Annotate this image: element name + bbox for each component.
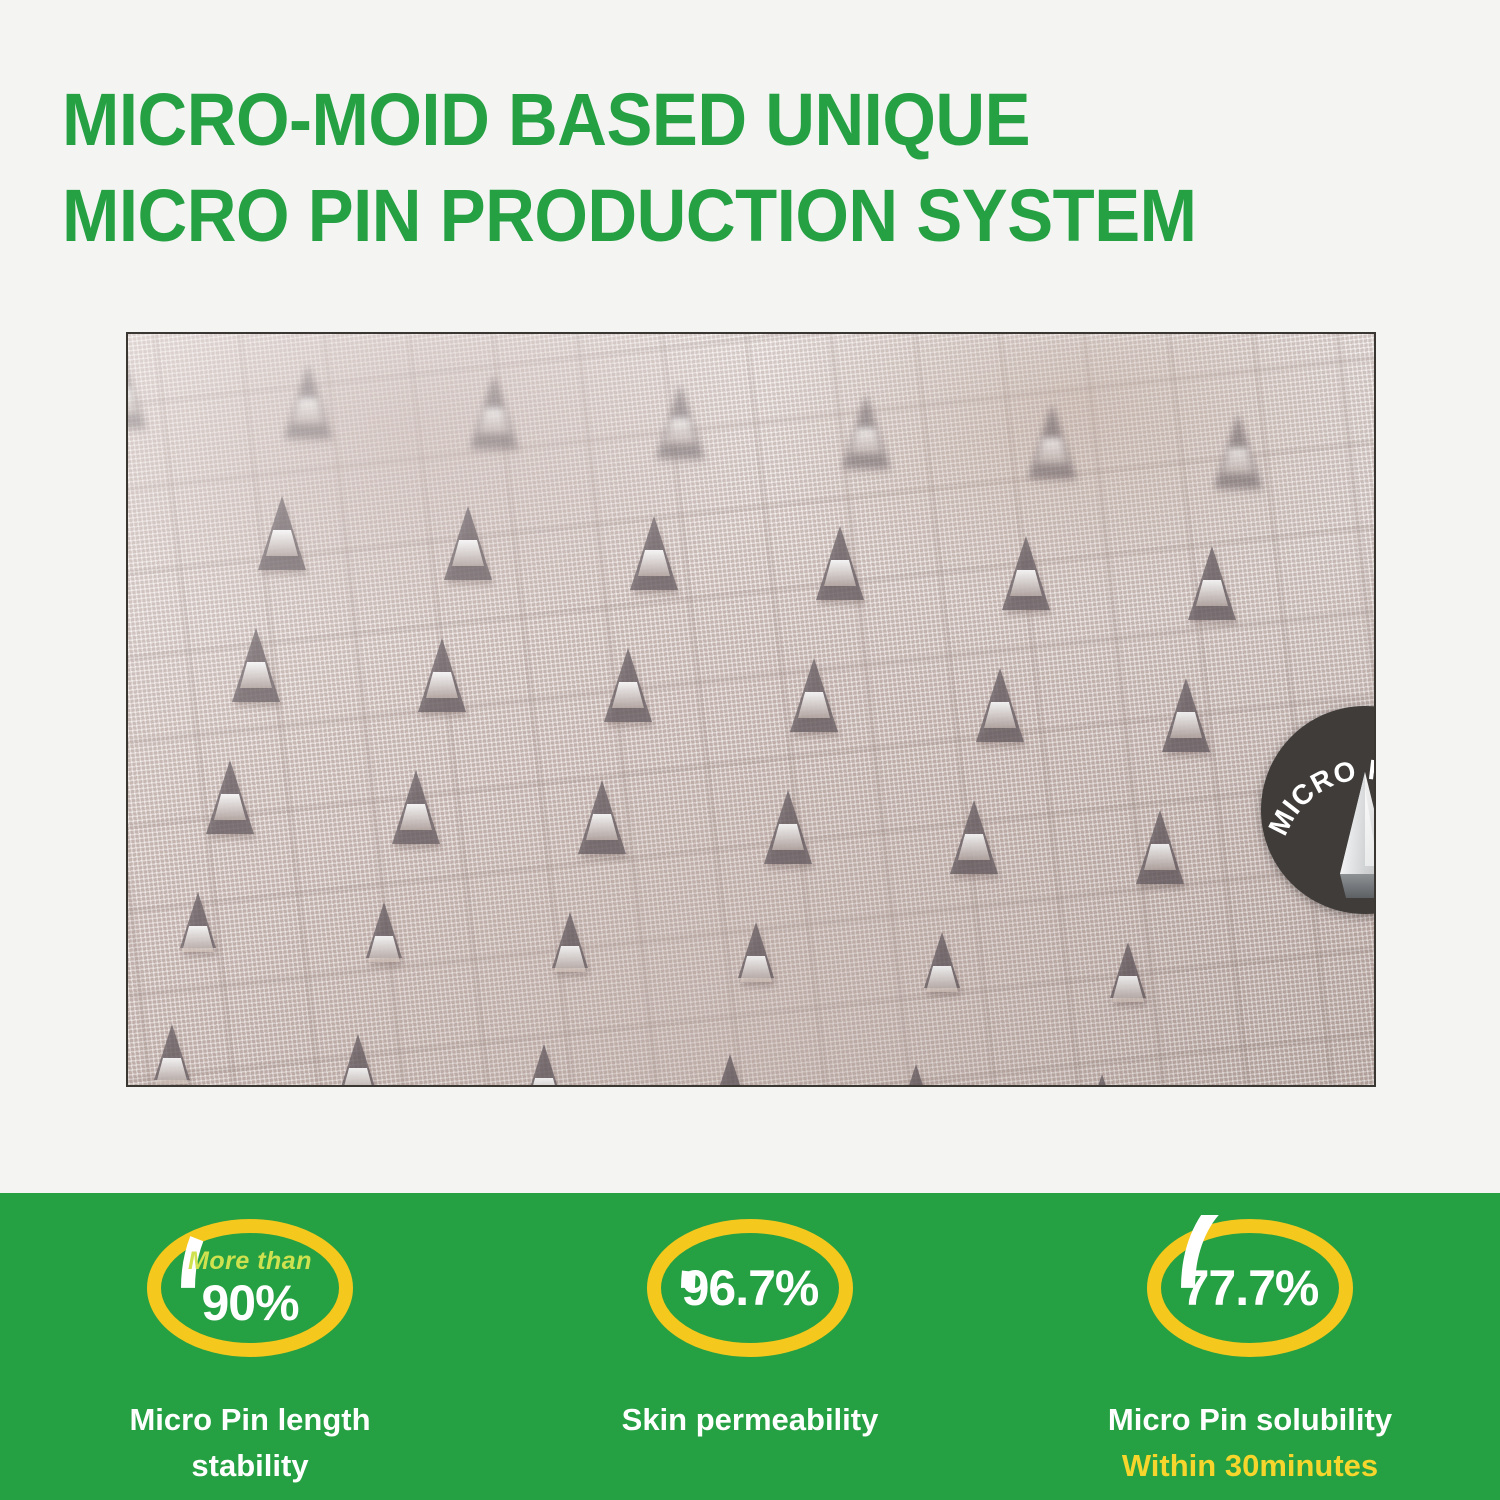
- stat-label-3: Micro Pin solubilityWithin 30minutes: [1108, 1397, 1392, 1489]
- stat-ring-3: 77.7%: [1139, 1215, 1361, 1361]
- stat-ring-1: More than90%: [139, 1215, 361, 1361]
- stat-item-2: 96.7%Skin permeability: [500, 1193, 1000, 1500]
- stat-value-block-3: 77.7%: [1182, 1263, 1319, 1313]
- photo-gloss-overlay: [128, 334, 1374, 1085]
- page-title: MICRO-MOID BASED UNIQUE MICRO PIN PRODUC…: [62, 72, 1442, 264]
- stat-value-1: 90%: [188, 1278, 312, 1328]
- stat-item-3: 77.7%Micro Pin solubilityWithin 30minute…: [1000, 1193, 1500, 1500]
- micro-pin-microscope-photo: MICRO PIN 200EA: [126, 332, 1376, 1087]
- stat-sublabel-3: Within 30minutes: [1108, 1443, 1392, 1489]
- stat-prefix-1: More than: [188, 1249, 312, 1274]
- stat-value-block-1: More than90%: [188, 1249, 312, 1328]
- stats-row: More than90%Micro Pin lengthstability96.…: [0, 1193, 1500, 1500]
- micro-pin-200ea-badge: MICRO PIN 200EA: [1261, 706, 1376, 914]
- stat-label-2: Skin permeability: [622, 1397, 879, 1443]
- title-line-1: MICRO-MOID BASED UNIQUE: [62, 72, 1345, 168]
- stat-value-block-2: 96.7%: [682, 1263, 819, 1313]
- title-line-2: MICRO PIN PRODUCTION SYSTEM: [62, 168, 1345, 264]
- stat-label-1: Micro Pin lengthstability: [129, 1397, 370, 1489]
- stat-ring-2: 96.7%: [639, 1215, 861, 1361]
- stats-band: More than90%Micro Pin lengthstability96.…: [0, 1193, 1500, 1500]
- stat-value-3: 77.7%: [1182, 1263, 1319, 1313]
- pyramid-needle-icon: [1328, 770, 1376, 898]
- stat-item-1: More than90%Micro Pin lengthstability: [0, 1193, 500, 1500]
- stat-value-2: 96.7%: [682, 1263, 819, 1313]
